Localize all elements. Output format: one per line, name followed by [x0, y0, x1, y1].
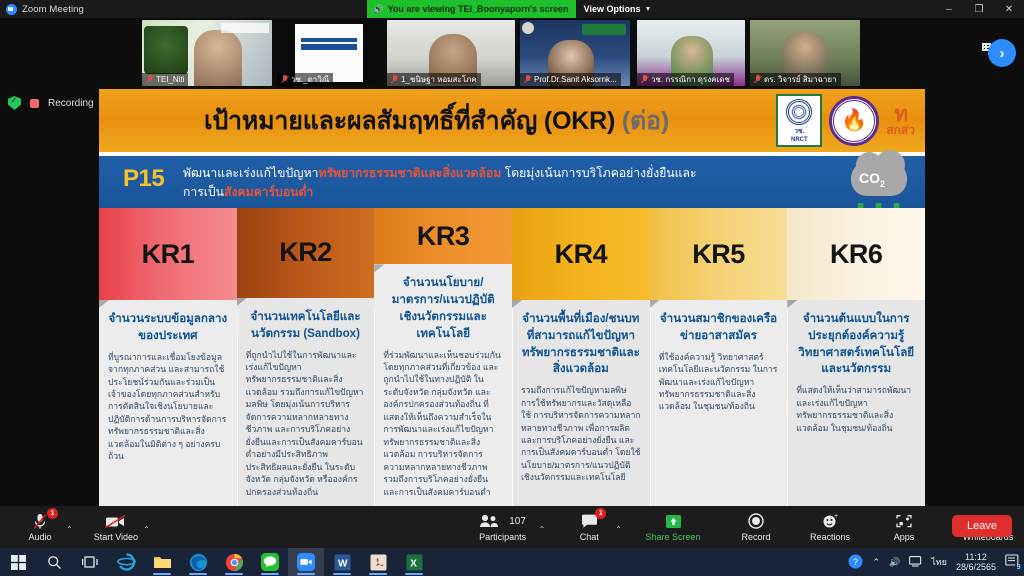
- running-indicator: [333, 573, 351, 575]
- window-controls: – ❐ ✕: [934, 0, 1024, 18]
- kr-heading: จำนวนสมาชิกของเครือข่ายอาสาสมัคร: [659, 311, 779, 345]
- kr-tab: KR6: [787, 208, 925, 300]
- record-circle-icon: [748, 513, 764, 530]
- microsoft-excel-icon[interactable]: X: [396, 548, 432, 576]
- sks-label: สกสว: [886, 124, 915, 136]
- windows-taskbar: W X ? ⌃ 🔊 ไทย 11:12 28/6/2565: [0, 548, 1024, 576]
- video-detail-person: [194, 30, 242, 86]
- participant-name: 1_ชนิษฐา หอมสะโภค: [401, 73, 477, 86]
- running-indicator: [189, 573, 207, 575]
- language-indicator[interactable]: ไทย: [931, 555, 947, 569]
- zoom-icon[interactable]: [288, 548, 324, 576]
- audio-button[interactable]: 1 Audio: [14, 506, 66, 548]
- mic-muted-icon: [391, 75, 398, 84]
- microsoft-word-icon[interactable]: W: [324, 548, 360, 576]
- audio-options-caret[interactable]: ⌃: [66, 525, 73, 534]
- recording-label: Recording: [48, 98, 94, 109]
- key-results-row: KR1 จำนวนระบบข้อมูลกลางของประเทศ ที่บูรณ…: [99, 208, 925, 506]
- video-detail-logo: [582, 24, 626, 35]
- kr-body: จำนวนสมาชิกของเครือข่ายอาสาสมัคร ที่ใช้อ…: [650, 300, 788, 506]
- recording-dot-icon: [30, 99, 39, 108]
- participant-name-badge: ดร. วิจารย์ สิมาฉายา: [750, 73, 841, 86]
- participant-name: Prof.Dr.Sanit Aksornk...: [534, 75, 617, 84]
- objective-line1-highlight: ทรัพยากรธรรมชาติและสิ่งแวดล้อม: [318, 166, 501, 180]
- title-bar: Zoom Meeting 🔊 You are viewing TEI_Boony…: [0, 0, 1024, 18]
- mic-muted-icon: [524, 75, 531, 84]
- sks-logo-icon: ท สกสว: [886, 105, 915, 137]
- participant-thumbnail[interactable]: ดร. วิจารย์ สิมาฉายา: [750, 20, 860, 86]
- zoom-logo-icon: [6, 4, 17, 15]
- chat-caret[interactable]: ⌃: [615, 525, 622, 534]
- kr-description: ที่ถูกนำไปใช้ในการพัฒนาและเร่งแก้ไขปัญหา…: [246, 349, 366, 498]
- participant-thumbnail[interactable]: Prof.Dr.Sanit Aksornk...: [520, 20, 630, 86]
- sks-mark: ท: [894, 105, 907, 125]
- participant-thumbnail[interactable]: 1_ชนิษฐา หอมสะโภค: [387, 20, 515, 86]
- close-button[interactable]: ✕: [994, 0, 1024, 18]
- windows-start-icon[interactable]: [0, 548, 36, 576]
- share-screen-icon: [665, 513, 682, 530]
- video-options-caret[interactable]: ⌃: [143, 525, 150, 534]
- audio-label: Audio: [28, 532, 51, 542]
- mic-muted-icon: [281, 75, 288, 84]
- slide-title-suffix: (ต่อ): [622, 107, 669, 135]
- reactions-label: Reactions: [810, 532, 850, 542]
- participant-name: ดร. วิจารย์ สิมาฉายา: [764, 73, 837, 86]
- reactions-smiley-icon: +: [822, 513, 839, 530]
- participant-name-badge: วช. กรรณิกา ดุรงคเดช: [637, 73, 734, 86]
- zoom-toolbar: 1 Audio ⌃ Start Video ⌃ 107 Participants…: [0, 506, 1024, 548]
- chat-button[interactable]: 1 Chat: [563, 506, 615, 548]
- kr-column-4: KR4 จำนวนพื้นที่เมือง/ชนบทที่สามารถแก้ไข…: [512, 208, 650, 506]
- participant-name: TEI_Niti: [156, 75, 184, 84]
- share-screen-label: Share Screen: [645, 532, 700, 542]
- svg-text:?: ?: [853, 557, 858, 567]
- kr-body: จำนวนเทคโนโลยีและนวัตกรรม (Sandbox) ที่ถ…: [237, 298, 375, 506]
- leave-button[interactable]: Leave: [952, 515, 1012, 537]
- objective-line1-a: พัฒนาและเร่งแก้ไขปัญหา: [183, 166, 318, 180]
- slide-title-main: เป้าหมายและผลสัมฤทธิ์ที่สำคัญ (OKR): [204, 107, 615, 135]
- volume-icon[interactable]: 🔊: [889, 557, 900, 568]
- torch-emblem-icon: 🔥: [829, 96, 879, 146]
- screen-share-notice-bar: 🔊 You are viewing TEI_Boonyaporn's scree…: [367, 0, 659, 18]
- app-title: Zoom Meeting: [22, 4, 84, 15]
- record-button[interactable]: Record: [730, 506, 782, 548]
- chevron-down-icon: ▼: [644, 6, 651, 13]
- kr-description: ที่ใช้องค์ความรู้ วิทยาศาสตร์ เทคโนโลยีแ…: [659, 351, 779, 413]
- svg-text:W: W: [338, 558, 348, 569]
- camera-off-icon: [105, 513, 126, 530]
- kr-column-3: KR3 จำนวนนโยบาย/มาตรการ/แนวปฏิบัติเชิงนว…: [374, 208, 512, 506]
- video-detail-tree: [144, 26, 188, 74]
- clock-date: 28/6/2565: [956, 562, 996, 572]
- microphone-muted-icon: [33, 513, 47, 530]
- kr-tab: KR5: [650, 208, 788, 300]
- kr-tab-label: KR2: [279, 237, 332, 268]
- notifications-icon[interactable]: 9: [1005, 554, 1020, 570]
- objective-line2-a: การเป็น: [183, 185, 224, 199]
- running-indicator: [261, 573, 279, 575]
- chat-badge: 1: [595, 508, 606, 519]
- kr-description: ที่ร่วมพัฒนาและเห็นชอบร่วมกันโดยทุกภาคส่…: [383, 349, 503, 498]
- participant-name: วช._ดาวิณี: [291, 73, 329, 86]
- system-tray: ? ⌃ 🔊 ไทย 11:12 28/6/2565 9: [848, 548, 1020, 576]
- kr-column-1: KR1 จำนวนระบบข้อมูลกลางของประเทศ ที่บูรณ…: [99, 208, 237, 506]
- running-indicator: [297, 573, 315, 575]
- search-icon[interactable]: [36, 548, 72, 576]
- kr-column-5: KR5 จำนวนสมาชิกของเครือข่ายอาสาสมัคร ที่…: [650, 208, 788, 506]
- video-detail-highlight: [522, 22, 534, 34]
- notifications-count: 9: [1015, 564, 1022, 571]
- kr-heading: จำนวนนโยบาย/มาตรการ/แนวปฏิบัติเชิงนวัตกร…: [383, 275, 503, 342]
- objective-band: P15 พัฒนาและเร่งแก้ไขปัญหาทรัพยากรธรรมชา…: [99, 156, 925, 208]
- internet-explorer-icon[interactable]: [108, 548, 144, 576]
- participant-name-badge: Prof.Dr.Sanit Aksornk...: [520, 73, 621, 86]
- participants-button[interactable]: 107 Participants: [467, 506, 539, 548]
- kr-description: ที่แสดงให้เห็นว่าสามารถพัฒนาและเร่งแก้ไข…: [796, 384, 916, 434]
- nrct-wheel-icon: [786, 99, 812, 125]
- kr-tab: KR2: [237, 208, 375, 298]
- share-notice-text: You are viewing TEI_Boonyaporn's screen: [388, 4, 569, 14]
- running-indicator: [225, 573, 243, 575]
- line-icon[interactable]: [252, 548, 288, 576]
- running-indicator: [405, 573, 423, 575]
- slide-header: เป้าหมายและผลสัมฤทธิ์ที่สำคัญ (OKR) (ต่อ…: [99, 89, 925, 152]
- video-detail-line: [301, 38, 357, 42]
- help-circle-icon[interactable]: ?: [848, 554, 863, 571]
- video-detail-line: [301, 44, 357, 50]
- kr-column-6: KR6 จำนวนต้นแบบในการประยุกต์องค์ความรู้ว…: [787, 208, 925, 506]
- participant-filmstrip[interactable]: TEI_Niti วช._ดาวิณี 1_ชนิษฐา หอมสะโภค: [0, 18, 1024, 88]
- chat-label: Chat: [580, 532, 599, 542]
- participant-name-badge: วช._ดาวิณี: [277, 73, 333, 86]
- task-view-icon[interactable]: [72, 548, 108, 576]
- audio-badge: 1: [47, 508, 58, 519]
- kr-description: ที่บูรณาการและเชื่อมโยงข้อมูลจากทุกภาคส่…: [108, 351, 228, 463]
- share-screen-button[interactable]: Share Screen: [638, 506, 708, 548]
- kr-heading: จำนวนระบบข้อมูลกลางของประเทศ: [108, 311, 228, 345]
- participant-thumbnail[interactable]: วช. กรรณิกา ดุรงคเดช: [637, 20, 745, 86]
- google-chrome-icon[interactable]: [216, 548, 252, 576]
- participant-name-badge: TEI_Niti: [142, 73, 188, 86]
- svg-text:+: +: [834, 513, 838, 520]
- participant-name: วช. กรรณิกา ดุรงคเดช: [651, 73, 730, 86]
- chevron-up-icon[interactable]: ⌃: [872, 557, 880, 568]
- kr-tab-label: KR5: [692, 239, 745, 270]
- co2-label: CO2: [859, 170, 885, 189]
- participant-thumbnail[interactable]: วช._ดาวิณี: [277, 20, 382, 86]
- kr-tab: KR4: [512, 208, 650, 300]
- share-notice: 🔊 You are viewing TEI_Boonyaporn's scree…: [367, 0, 576, 18]
- kr-heading: จำนวนเทคโนโลยีและนวัตกรรม (Sandbox): [246, 309, 366, 343]
- shared-screen-slide: เป้าหมายและผลสัมฤทธิ์ที่สำคัญ (OKR) (ต่อ…: [99, 89, 925, 506]
- kr-body: จำนวนต้นแบบในการประยุกต์องค์ความรู้วิทยา…: [787, 300, 925, 506]
- start-video-label: Start Video: [94, 532, 138, 542]
- chevron-right-icon[interactable]: ›: [988, 39, 1016, 67]
- kr-tab: KR3: [374, 208, 512, 264]
- minimize-button[interactable]: –: [934, 0, 964, 18]
- participants-icon: 107: [479, 513, 526, 530]
- mic-muted-icon: [754, 75, 761, 84]
- kr-tab-label: KR6: [830, 239, 883, 270]
- kr-tab-label: KR3: [417, 221, 470, 252]
- network-icon[interactable]: [909, 556, 922, 569]
- speaker-icon: 🔊: [373, 4, 384, 15]
- objective-line1-b: โดยมุ่งเน้นการบริโภคอย่างยั่งยืนและ: [501, 166, 696, 180]
- adobe-acrobat-icon[interactable]: [360, 548, 396, 576]
- reactions-button[interactable]: + Reactions: [804, 506, 856, 548]
- apps-label: Apps: [894, 532, 915, 542]
- participant-thumbnail[interactable]: TEI_Niti: [142, 20, 272, 86]
- kr-tab-label: KR4: [555, 239, 608, 270]
- kr-heading: จำนวนต้นแบบในการประยุกต์องค์ความรู้วิทยา…: [796, 311, 916, 378]
- title-bar-left: Zoom Meeting: [0, 4, 84, 15]
- participants-count: 107: [509, 516, 526, 527]
- nrct-label-th: วช.: [794, 126, 804, 136]
- clock-time: 11:12: [956, 552, 996, 562]
- participants-label: Participants: [479, 532, 526, 542]
- record-label: Record: [741, 532, 770, 542]
- start-video-button[interactable]: Start Video: [89, 506, 143, 548]
- apps-button[interactable]: Apps: [878, 506, 930, 548]
- objective-line2-highlight: สังคมคาร์บอนต่ำ: [224, 185, 313, 199]
- video-detail-banner: [221, 23, 269, 33]
- slide-logo-group: วช. NRCT 🔥 ท สกสว: [776, 94, 915, 147]
- mic-muted-icon: [146, 75, 153, 84]
- kr-body: จำนวนระบบข้อมูลกลางของประเทศ ที่บูรณาการ…: [99, 300, 237, 506]
- kr-description: รวมถึงการแก้ไขปัญหามลพิษ การใช้ทรัพยากรแ…: [521, 384, 641, 484]
- torch-glyph: 🔥: [841, 110, 867, 131]
- restore-button[interactable]: ❐: [964, 0, 994, 18]
- objective-text: พัฒนาและเร่งแก้ไขปัญหาทรัพยากรธรรมชาติแล…: [183, 164, 847, 202]
- participants-caret[interactable]: ⌃: [539, 525, 546, 534]
- kr-tab-label: KR1: [142, 239, 195, 270]
- clock[interactable]: 11:12 28/6/2565: [956, 552, 996, 572]
- shield-check-icon: [8, 96, 21, 110]
- kr-tab: KR1: [99, 208, 237, 300]
- kr-body: จำนวนนโยบาย/มาตรการ/แนวปฏิบัติเชิงนวัตกร…: [374, 264, 512, 506]
- recording-indicator[interactable]: Recording: [8, 96, 94, 110]
- file-explorer-icon[interactable]: [144, 548, 180, 576]
- apps-icon: [896, 513, 912, 530]
- nrct-logo-icon: วช. NRCT: [776, 94, 822, 147]
- kr-column-2: KR2 จำนวนเทคโนโลยีและนวัตกรรม (Sandbox) …: [237, 208, 375, 506]
- view-options-label: View Options: [584, 4, 641, 14]
- kr-body: จำนวนพื้นที่เมือง/ชนบทที่สามารถแก้ไขปัญห…: [512, 300, 650, 506]
- mic-muted-icon: [641, 75, 648, 84]
- view-options-button[interactable]: View Options ▼: [576, 0, 660, 18]
- microsoft-edge-icon[interactable]: [180, 548, 216, 576]
- zoom-meeting-window: Zoom Meeting 🔊 You are viewing TEI_Boony…: [0, 0, 1024, 576]
- objective-code: P15: [123, 165, 164, 193]
- running-indicator: [153, 573, 171, 575]
- participant-name-badge: 1_ชนิษฐา หอมสะโภค: [387, 73, 481, 86]
- svg-text:X: X: [410, 558, 417, 569]
- running-indicator: [369, 573, 387, 575]
- kr-heading: จำนวนพื้นที่เมือง/ชนบทที่สามารถแก้ไขปัญห…: [521, 311, 641, 378]
- nrct-label-en: NRCT: [791, 137, 808, 143]
- slide-title: เป้าหมายและผลสัมฤทธิ์ที่สำคัญ (OKR) (ต่อ…: [204, 101, 669, 141]
